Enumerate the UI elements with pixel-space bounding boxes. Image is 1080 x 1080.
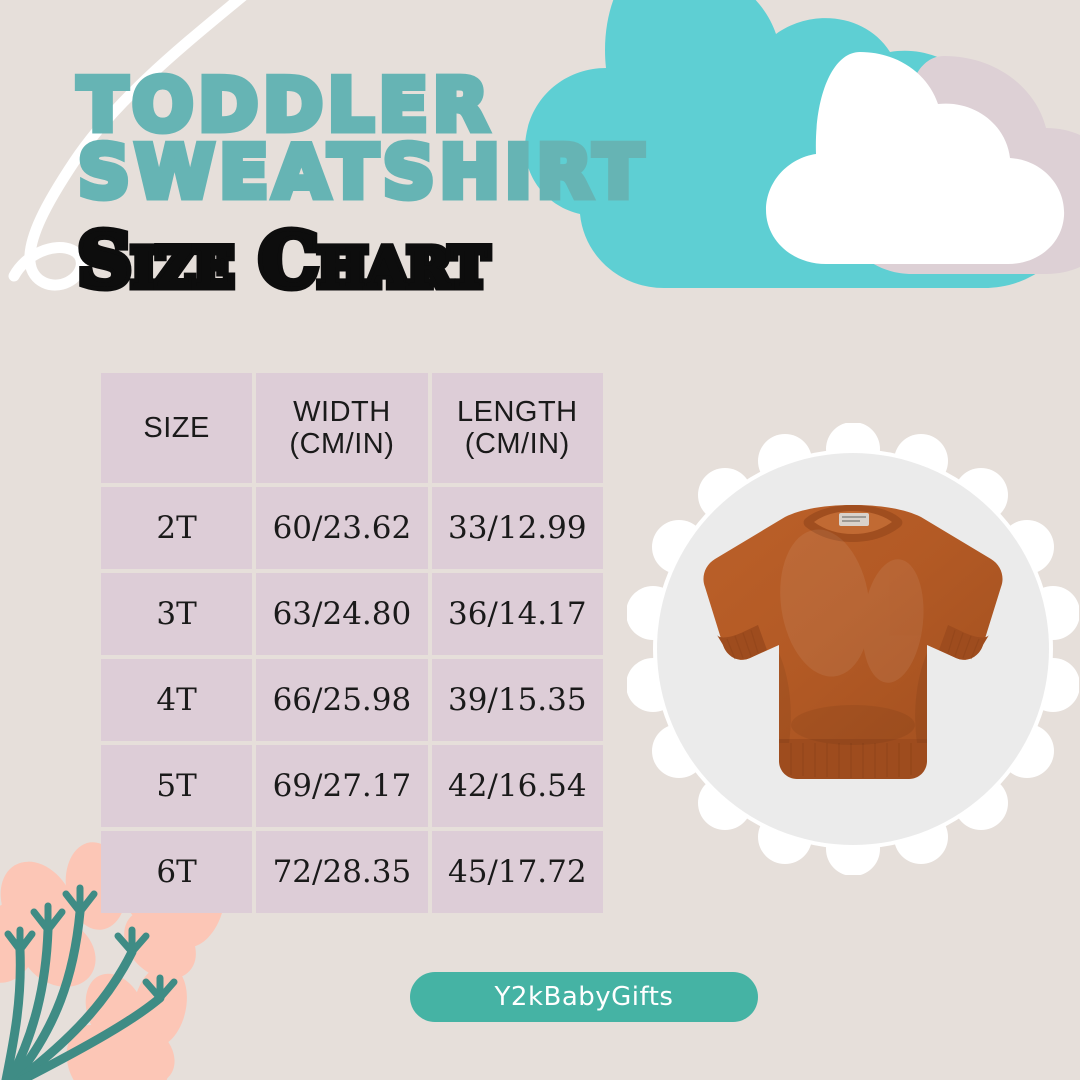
size-chart-table: SIZE WIDTH (CM/IN) LENGTH (CM/IN) 2T 60/…: [97, 369, 607, 917]
table-row: 3T 63/24.80 36/14.17: [101, 573, 603, 655]
cell-size: 6T: [101, 831, 252, 913]
header-cell-size: SIZE: [101, 373, 252, 483]
cell-size: 2T: [101, 487, 252, 569]
cell-width: 72/28.35: [256, 831, 427, 913]
cell-length: 45/17.72: [432, 831, 603, 913]
cell-width: 66/25.98: [256, 659, 427, 741]
cell-width: 69/27.17: [256, 745, 427, 827]
cell-length: 39/15.35: [432, 659, 603, 741]
header-cell-width: WIDTH (CM/IN): [256, 373, 427, 483]
product-photo-medallion: [627, 423, 1079, 875]
product-inner-circle: [657, 453, 1049, 845]
header-cell-length: LENGTH (CM/IN): [432, 373, 603, 483]
table-row: 2T 60/23.62 33/12.99: [101, 487, 603, 569]
cell-size: 4T: [101, 659, 252, 741]
shop-name-label: Y2kBabyGifts: [495, 982, 674, 1012]
shop-name-badge[interactable]: Y2kBabyGifts: [410, 972, 758, 1022]
header-size-main: SIZE: [143, 412, 209, 444]
title-line-1: Toddler: [78, 72, 778, 139]
cell-size: 5T: [101, 745, 252, 827]
cell-size: 3T: [101, 573, 252, 655]
table-row: 4T 66/25.98 39/15.35: [101, 659, 603, 741]
page-subtitle: Size Chart: [78, 224, 778, 298]
size-chart-poster: Toddler Sweatshirt Size Chart SIZE WIDTH…: [0, 0, 1080, 1080]
header-length-main: LENGTH: [457, 396, 578, 428]
cell-length: 42/16.54: [432, 745, 603, 827]
cell-length: 36/14.17: [432, 573, 603, 655]
table-header-row-group: SIZE WIDTH (CM/IN) LENGTH (CM/IN): [101, 373, 603, 483]
table-row: 6T 72/28.35 45/17.72: [101, 831, 603, 913]
table-header-row: SIZE WIDTH (CM/IN) LENGTH (CM/IN): [101, 373, 603, 483]
header-length-sub: (CM/IN): [432, 428, 603, 460]
table-row: 5T 69/27.17 42/16.54: [101, 745, 603, 827]
header-width-sub: (CM/IN): [256, 428, 427, 460]
cell-length: 33/12.99: [432, 487, 603, 569]
header-width-main: WIDTH: [293, 396, 391, 428]
toddler-sweatshirt-icon: [657, 453, 1049, 845]
table-body: 2T 60/23.62 33/12.99 3T 63/24.80 36/14.1…: [101, 487, 603, 913]
title-line-2: Sweatshirt: [78, 139, 778, 206]
heading-block: Toddler Sweatshirt Size Chart: [78, 72, 778, 298]
cell-width: 63/24.80: [256, 573, 427, 655]
cell-width: 60/23.62: [256, 487, 427, 569]
